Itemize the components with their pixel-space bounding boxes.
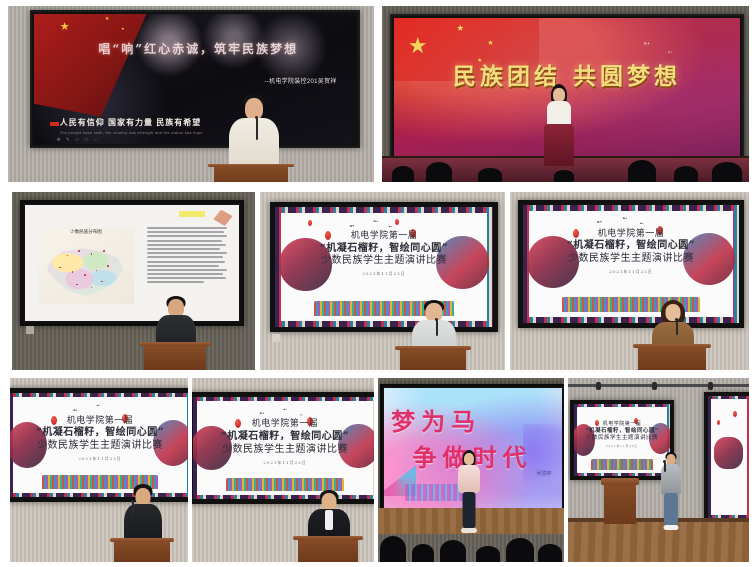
- banner-line-1: 机电学院第一届: [27, 416, 173, 428]
- wall-switch[interactable]: [272, 334, 280, 342]
- audience-silhouette: [392, 166, 414, 182]
- microphone-head: [675, 318, 678, 321]
- led-screen: » 贯彻会议精神 落实精神实质 少数民族分布图: [20, 200, 244, 326]
- wall-switch[interactable]: [26, 326, 34, 334]
- audience-silhouette: [476, 546, 500, 562]
- spotlight-icon: [596, 382, 601, 390]
- microphone-head: [255, 116, 258, 119]
- screen-toolbar[interactable]: ✥ ✎ ▱ ▭ ⋯: [57, 137, 99, 143]
- banner-line-2: “机凝石榴籽，智绘同心圆”: [27, 427, 173, 440]
- microphone: [256, 118, 258, 140]
- slide-line-1: 梦为马: [391, 402, 481, 437]
- photo-4[interactable]: ➵ ➵ ➵ 机电学院第一届 “机凝石榴籽，智绘同心圆” 少数民族学生主题演讲比赛…: [260, 192, 505, 370]
- banner-line-1: 机电学院第一届: [545, 229, 718, 241]
- banner-date: 2021年11月23日: [211, 460, 358, 465]
- podium: [214, 164, 288, 182]
- audience-silhouette: [628, 160, 656, 182]
- photo-6[interactable]: ➵ ➵ 机电学院第一届 “机凝石榴籽，智绘同心圆” 少数民族学生主题演讲比赛 2…: [10, 378, 188, 562]
- audience-silhouette: [538, 544, 562, 562]
- map-title: 少数民族分布图: [38, 227, 134, 235]
- audience-silhouette: [412, 544, 434, 562]
- shape-icon: ▱: [75, 137, 79, 143]
- spotlight-icon: [708, 382, 713, 390]
- photo-5[interactable]: ➵ ➵ ➵ 机电学院第一届 “机凝石榴籽，智绘同心圆” 少数民族学生主题演讲比赛…: [510, 192, 749, 370]
- photo-1[interactable]: ★ ★ ★ 唱“响”红心赤诚，筑牢民族梦想 --机电学院装控201吴贺祥 人民有…: [8, 6, 374, 182]
- photo-2[interactable]: ★ ★ ★ ★ 民族团结 共圆梦想 ➳ ➳: [382, 6, 749, 182]
- podium: [144, 342, 206, 370]
- speaker-person: [542, 84, 576, 166]
- led-screen: ➵ ➵ ➵ 机电学院第一届 “机凝石榴籽，智绘同心圆” 少数民族学生主题演讲比赛…: [518, 200, 744, 328]
- banner-date: 2021年11月23日: [297, 271, 471, 276]
- audience-silhouette: [506, 538, 534, 562]
- spotlight-icon: [652, 382, 657, 390]
- banner-line-2: “机凝石榴籽，智绘同心圆”: [580, 428, 665, 435]
- led-screen: ➵ ➵ ➵ 机电学院第一届 “机凝石榴籽，智绘同心圆” 少数民族学生主题演讲比赛…: [270, 202, 498, 332]
- banner-line-1: 机电学院第一届: [297, 231, 471, 243]
- banner-line-2: “机凝石榴籽，智绘同心圆”: [545, 240, 718, 253]
- slide-footer-en: The people have faith, the country has s…: [60, 131, 203, 135]
- banner-line-3: 少数民族学生主题演讲比赛: [545, 253, 718, 266]
- led-screen: ★ ★ ★ 唱“响”红心赤诚，筑牢民族梦想 --机电学院装控201吴贺祥 人民有…: [30, 10, 360, 148]
- podium: [114, 538, 170, 562]
- banner-date: 2021年11月23日: [545, 269, 718, 274]
- audience-silhouette: [478, 168, 502, 182]
- podium: [400, 346, 466, 370]
- slide-attribution: --机电学院装控201吴贺祥: [264, 76, 336, 85]
- audience-silhouette: [440, 540, 466, 562]
- audience-silhouette: [380, 536, 406, 562]
- banner-line-3: 少数民族学生主题演讲比赛: [27, 440, 173, 453]
- microphone: [436, 320, 438, 336]
- cursor-icon: ✥: [57, 137, 61, 143]
- photo-8[interactable]: 梦为马 争做时代 吴慧婷: [378, 378, 564, 562]
- frame-icon: ▭: [84, 137, 89, 143]
- podium: [638, 344, 706, 370]
- slide-footer-cn: 人民有信仰 国家有力量 民族有希望: [60, 117, 201, 128]
- banner-line-1: 机电学院第一届: [211, 419, 358, 431]
- photo-7[interactable]: ➵ ➵ ➵ 机电学院第一届 “机凝石榴籽，智绘同心圆” 少数民族学生主题演讲比赛…: [192, 378, 374, 562]
- photo-collage: ★ ★ ★ 唱“响”红心赤诚，筑牢民族梦想 --机电学院装控201吴贺祥 人民有…: [0, 0, 755, 567]
- audience-silhouette: [426, 162, 452, 182]
- microphone-head: [435, 318, 438, 321]
- microphone-head: [131, 500, 134, 503]
- more-icon: ⋯: [94, 137, 99, 143]
- speaker-person: [456, 450, 482, 534]
- banner-date: 2021年11月23日: [580, 445, 665, 448]
- banner-line-2: “机凝石榴籽，智绘同心圆”: [211, 431, 358, 444]
- banner-date: 2021年11月23日: [27, 456, 173, 461]
- slide-body-text: [147, 227, 228, 304]
- led-screen-side: [704, 392, 749, 522]
- podium: [298, 536, 358, 562]
- audience-silhouette: [712, 162, 742, 182]
- microphone: [676, 320, 678, 335]
- led-screen-main: 机电学院第一届 “机凝石榴籽，智绘同心圆” 少数民族学生主题演讲比赛 2021年…: [570, 400, 674, 480]
- slide-headline: 唱“响”红心赤诚，筑牢民族梦想: [53, 40, 343, 57]
- microphone: [664, 462, 666, 472]
- audience-silhouette: [674, 166, 698, 182]
- banner-line-2: “机凝石榴籽，智绘同心圆”: [297, 243, 471, 256]
- led-screen: ➵ ➵ ➵ 机电学院第一届 “机凝石榴籽，智绘同心圆” 少数民族学生主题演讲比赛…: [192, 392, 374, 504]
- podium: [604, 478, 636, 524]
- banner-line-3: 少数民族学生主题演讲比赛: [297, 255, 471, 268]
- banner-line-3: 少数民族学生主题演讲比赛: [211, 444, 358, 457]
- pen-icon: ✎: [66, 137, 70, 143]
- microphone-head: [663, 460, 666, 463]
- photo-9[interactable]: 机电学院第一届 “机凝石榴籽，智绘同心圆” 少数民族学生主题演讲比赛 2021年…: [568, 378, 749, 562]
- microphone: [132, 502, 134, 516]
- banner-line-3: 少数民族学生主题演讲比赛: [580, 435, 665, 442]
- photo-3[interactable]: » 贯彻会议精神 落实精神实质 少数民族分布图: [12, 192, 255, 370]
- audience-silhouette: [554, 170, 574, 182]
